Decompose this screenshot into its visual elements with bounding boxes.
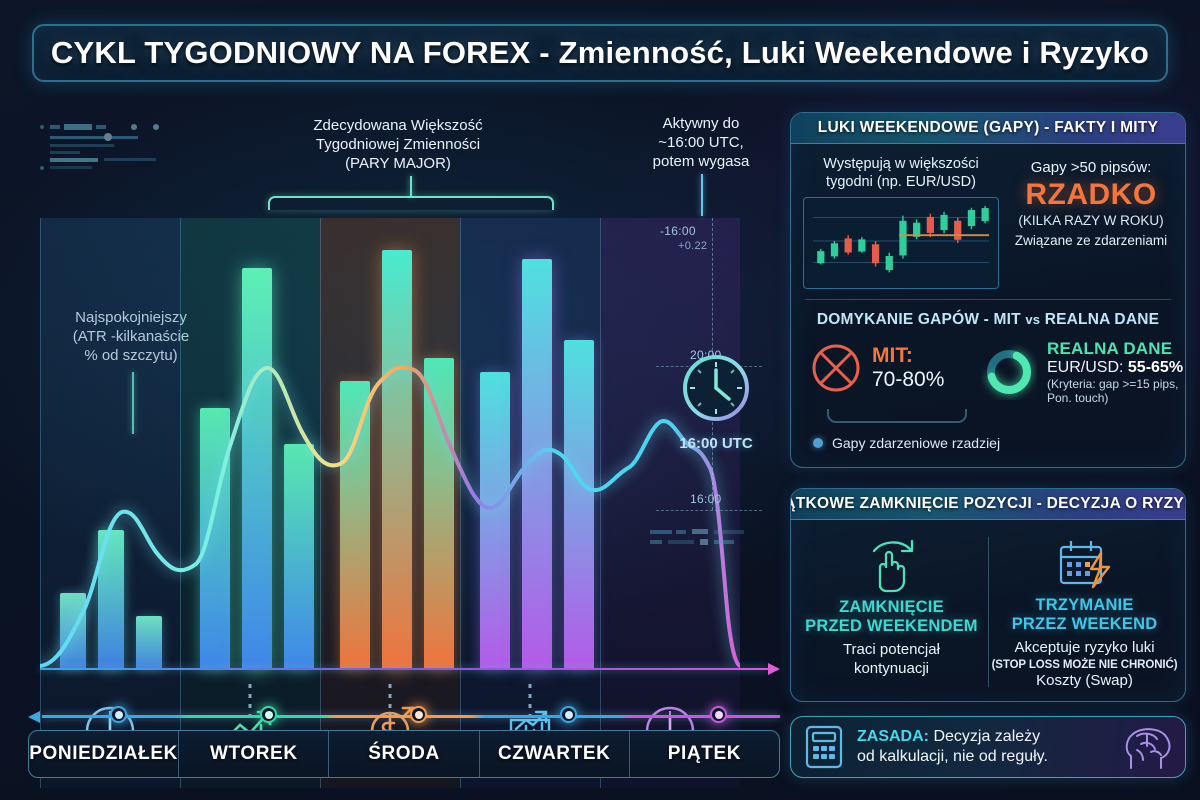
bullet-dot-icon	[813, 438, 823, 448]
tick-label-1600: 16:00	[690, 492, 722, 506]
friday-panel-header: PIĄTKOWE ZAMKNIĘCIE POZYCJI - DECYZJA O …	[791, 489, 1185, 520]
calendar-bolt-icon	[1053, 535, 1117, 591]
timeline-node-poniedzialek[interactable]	[110, 706, 127, 723]
friday-hold-warning: (STOP LOSS MOŻE NIE CHRONIĆ)	[988, 658, 1181, 672]
tick-label-plus022: +0.22	[678, 240, 707, 252]
timeline-node-sroda[interactable]	[410, 706, 427, 723]
real-data-criteria: (Kryteria: gap >=15 pips, Pon. touch)	[1047, 377, 1183, 406]
gaps-left-block: Występują w większości tygodni (np. EUR/…	[803, 155, 999, 294]
candlestick-gap-chart	[803, 197, 999, 289]
friday-hold-title: TRZYMANIE PRZEZ WEEKEND	[988, 596, 1181, 635]
day-label-czwartek[interactable]: CZWARTEK	[480, 731, 630, 777]
myth-real-brace	[827, 409, 967, 423]
clock-marker: 16:00 UTC	[668, 350, 764, 452]
clock-marker-label: 16:00 UTC	[668, 435, 764, 452]
gaps-footnote-label: Gapy zdarzeniowe rzadziej	[832, 435, 1000, 451]
infographic-root: CYKL TYGODNIOWY NA FOREX - Zmienność, Lu…	[0, 0, 1200, 800]
weekly-volatility-chart: Najspokojniejszy (ATR -kilkanaście % od …	[28, 100, 780, 772]
volatility-line	[40, 218, 740, 670]
gaps-footnote: Gapy zdarzeniowe rzadziej	[813, 435, 1000, 451]
friday-close-text: Traci potencjał kontynuacji	[795, 641, 988, 679]
plot-canvas: -16:00 +0.22 20:00 16:00	[40, 218, 740, 670]
page-title: CYKL TYGODNIOWY NA FOREX - Zmienność, Lu…	[51, 35, 1149, 71]
gap-close-section-title: DOMYKANIE GAPÓW - MIT vs REALNA DANE	[791, 311, 1185, 329]
cross-circle-icon	[809, 341, 863, 395]
hand-swipe-icon	[860, 535, 922, 593]
annotation-majority-leader	[410, 176, 412, 198]
calculator-icon	[801, 723, 847, 771]
real-data-value: EUR/USD: 55-65%	[1047, 359, 1183, 377]
rule-text: ZASADA: Decyzja zależy od kalkulacji, ni…	[857, 727, 1111, 767]
hud-decoration-icon	[38, 122, 188, 174]
myth-value: 70-80%	[872, 368, 944, 392]
myth-block: MIT: 70-80%	[809, 341, 944, 395]
brain-head-icon	[1121, 722, 1175, 772]
timeline-node-piatek[interactable]	[710, 706, 727, 723]
gridline-1600	[656, 510, 762, 511]
friday-panel-header-label: PIĄTKOWE ZAMKNIĘCIE POZYCJI - DECYZJA O …	[790, 495, 1186, 513]
friday-option-hold[interactable]: TRZYMANIE PRZEZ WEEKEND Akceptuje ryzyko…	[988, 533, 1181, 691]
day-label-poniedzialek[interactable]: PONIEDZIAŁEK	[29, 731, 179, 777]
annotation-majority-bracket	[268, 196, 554, 210]
donut-gauge-icon	[981, 344, 1037, 400]
friday-close-title: ZAMKNIĘCIE PRZED WEEKENDEM	[795, 598, 988, 637]
hud-decoration-bottom-icon	[650, 528, 750, 550]
gaps-panel-header: LUKI WEEKENDOWE (GAPY) - FAKTY I MITY	[791, 113, 1185, 144]
tick-label-minus1600: -16:00	[660, 224, 696, 238]
day-label-bar: PONIEDZIAŁEK WTOREK ŚRODA CZWARTEK PIĄTE…	[28, 730, 780, 778]
friday-hold-text: Akceptuje ryzyko luki (STOP LOSS MOŻE NI…	[988, 639, 1181, 691]
gaps-right-block: Gapy >50 pipsów: RZADKO (KILKA RAZY W RO…	[1005, 159, 1177, 248]
x-axis-arrow-icon	[768, 663, 780, 675]
annotation-friday-active: Aktywny do ~16:00 UTC, potem wygasa	[626, 114, 776, 172]
annotation-friday-leader	[701, 174, 703, 216]
friday-option-close[interactable]: ZAMKNIĘCIE PRZED WEEKENDEM Traci potencj…	[795, 533, 988, 691]
day-label-wtorek[interactable]: WTOREK	[179, 731, 329, 777]
day-label-piatek[interactable]: PIĄTEK	[630, 731, 779, 777]
gaps-left-caption: Występują w większości tygodni (np. EUR/…	[803, 155, 999, 191]
page-title-bar: CYKL TYGODNIOWY NA FOREX - Zmienność, Lu…	[32, 24, 1168, 82]
real-data-block: REALNA DANE EUR/USD: 55-65% (Kryteria: g…	[981, 339, 1183, 406]
gaps-panel-header-label: LUKI WEEKENDOWE (GAPY) - FAKTY I MITY	[818, 119, 1159, 137]
day-timeline	[28, 712, 780, 720]
gaps-panel-divider	[805, 299, 1171, 300]
gaps-answer: RZADKO	[1005, 178, 1177, 212]
friday-close-panel: PIĄTKOWE ZAMKNIĘCIE POZYCJI - DECYZJA O …	[790, 488, 1186, 702]
x-axis	[40, 668, 768, 670]
rule-bar: ZASADA: Decyzja zależy od kalkulacji, ni…	[790, 716, 1186, 778]
clock-icon	[678, 350, 754, 426]
gaps-question: Gapy >50 pipsów:	[1005, 159, 1177, 176]
gaps-panel: LUKI WEEKENDOWE (GAPY) - FAKTY I MITY Wy…	[790, 112, 1186, 468]
annotation-majority-volatility: Zdecydowana Większość Tygodniowej Zmienn…	[268, 116, 528, 174]
timeline-arrow-icon	[28, 711, 40, 723]
rule-label: ZASADA:	[857, 728, 929, 745]
real-data-title: REALNA DANE	[1047, 339, 1183, 359]
timeline-node-czwartek[interactable]	[560, 706, 577, 723]
day-label-sroda[interactable]: ŚRODA	[329, 731, 479, 777]
timeline-node-wtorek[interactable]	[260, 706, 277, 723]
myth-label: MIT:	[872, 344, 944, 368]
gaps-answer-note: Związane ze zdarzeniami	[1005, 233, 1177, 248]
gaps-answer-sub: (KILKA RAZY W ROKU)	[1005, 213, 1177, 228]
